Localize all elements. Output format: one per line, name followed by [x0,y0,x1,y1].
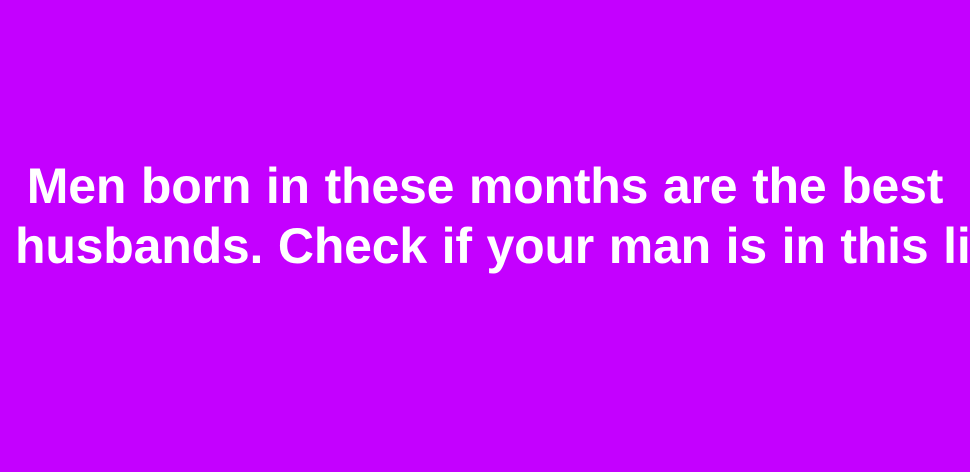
headline-text: Men born in these months are the best hu… [15,156,955,316]
headline-line-1: Men born in these months are the best [15,156,955,216]
text-card: Men born in these months are the best hu… [0,0,970,472]
headline-line-2: husbands. Check if your man is in this l… [15,216,955,276]
